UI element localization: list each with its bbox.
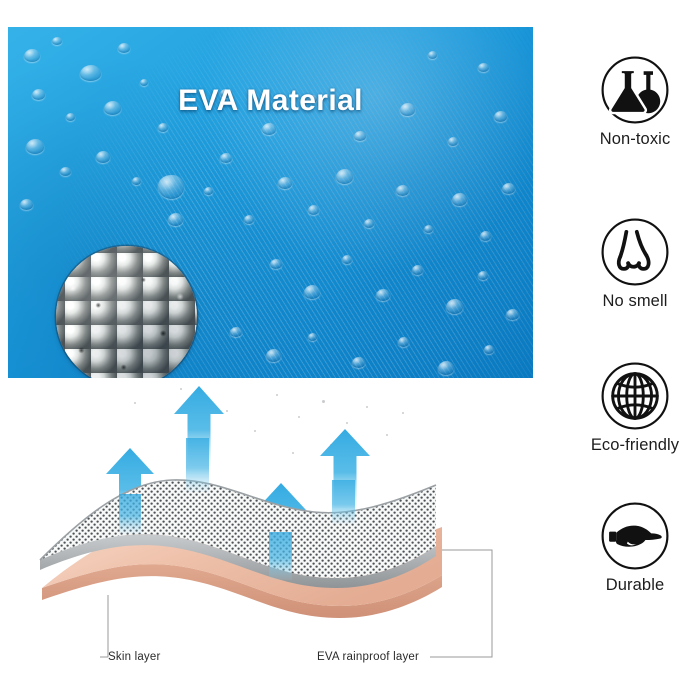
feature-label-durable: Durable	[570, 576, 700, 595]
pellet-vignette	[56, 246, 197, 378]
feature-item-durable[interactable]: Durable	[570, 500, 700, 595]
callout-skin-layer: Skin layer	[108, 651, 161, 663]
callout-eva-rainproof-layer: EVA rainproof layer	[317, 651, 419, 663]
eva-pellets-closeup	[56, 246, 197, 378]
feature-label-non-toxic: Non-toxic	[570, 130, 700, 149]
globe-icon	[599, 360, 671, 432]
layer-illustration	[30, 382, 550, 682]
feature-item-eco-friendly[interactable]: Eco-friendly	[570, 360, 700, 455]
feature-label-no-smell: No smell	[570, 292, 700, 311]
eva-material-infographic: EVA Material Non-toxic	[0, 0, 700, 700]
feature-list: Non-toxic No smell	[570, 40, 700, 640]
feature-item-non-toxic[interactable]: Non-toxic	[570, 54, 700, 149]
feature-item-no-smell[interactable]: No smell	[570, 216, 700, 311]
nose-icon	[599, 216, 671, 288]
page-title: EVA Material	[8, 84, 533, 118]
hand-icon	[599, 500, 671, 572]
fabric-layer-diagram: Skin layer EVA rainproof layer	[30, 382, 550, 682]
feature-label-eco-friendly: Eco-friendly	[570, 436, 700, 455]
flask-icon	[599, 54, 671, 126]
hero-material-photo: EVA Material	[8, 27, 533, 378]
